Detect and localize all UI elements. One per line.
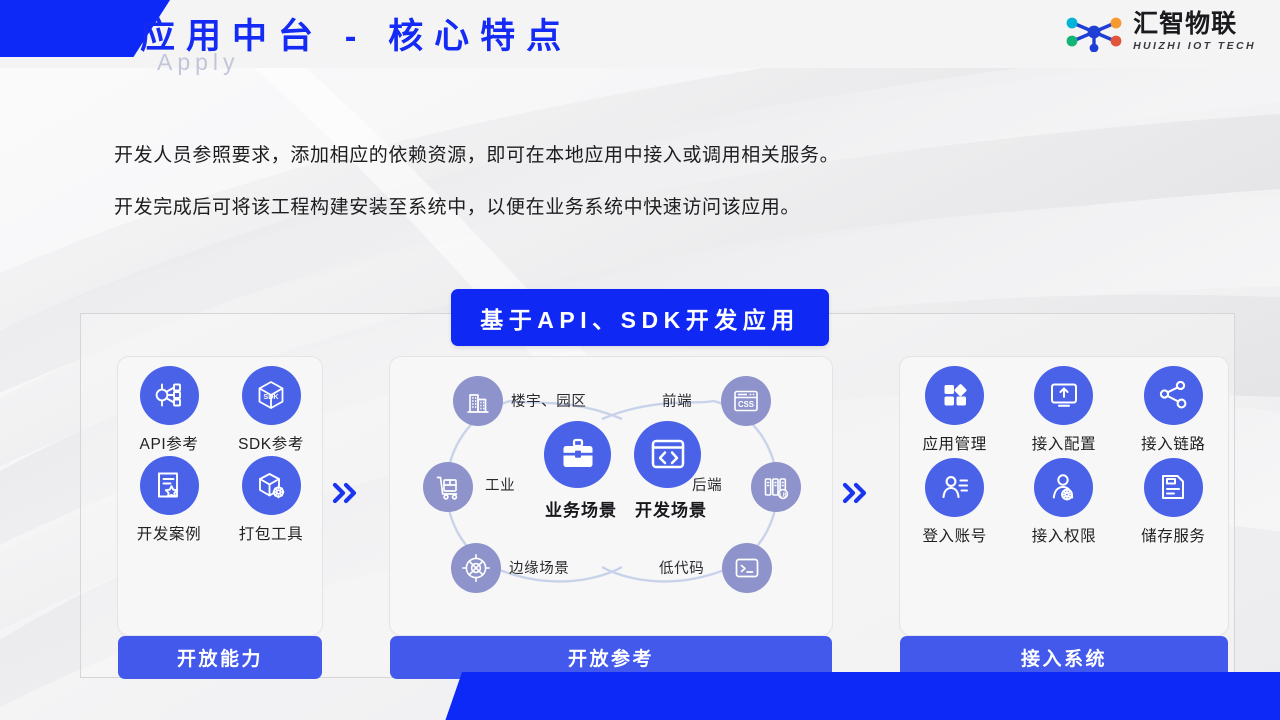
ring-node-frontend[interactable]: CSS [721,376,771,426]
double-chevron-right-icon [840,480,870,506]
capability-item-api[interactable]: API参考 [140,366,199,454]
ring-node-building[interactable] [453,376,503,426]
box-gear-icon [242,456,301,515]
capability-item-label: SDK参考 [238,432,304,454]
factory-cart-icon [433,472,463,502]
access-item-label: 登入账号 [922,524,986,546]
paragraph-1: 开发人员参照要求，添加相应的依赖资源，即可在本地应用中接入或调用相关服务。 [114,140,839,167]
capability-item-label: 开发案例 [137,522,201,544]
file-storage-icon [1144,458,1203,517]
code-brackets-icon [648,434,688,474]
panel-footer-open-capability[interactable]: 开放能力 [118,636,322,679]
ring-label-building: 楼宇、园区 [511,390,587,411]
capability-item-sdk[interactable]: SDK SDK参考 [238,366,304,454]
ring-label-edge: 边缘场景 [509,557,569,578]
access-item-storage-service[interactable]: 储存服务 [1141,458,1205,546]
capability-icon-grid: API参考 SDK SDK参考 [118,357,322,544]
access-item-label: 接入权限 [1032,524,1096,546]
svg-text:SDK: SDK [263,392,279,401]
capability-item-label: 打包工具 [239,522,303,544]
access-item-label: 接入配置 [1032,432,1096,454]
ring-node-backend[interactable]: LB [751,462,801,512]
reference-ring-diagram: 楼宇、园区 工业 [390,357,832,635]
ring-label-lowcode: 低代码 [659,557,704,578]
separator-arrow-2 [833,480,877,512]
terminal-icon [732,553,762,583]
ring-label-industry: 工业 [485,474,515,495]
ring-node-edge[interactable] [451,543,501,593]
logo-name-en: HUIZHI IOT TECH [1133,41,1256,52]
server-rack-icon: LB [761,472,791,502]
panels-row: API参考 SDK SDK参考 [80,313,1235,678]
monitor-upload-icon [1034,366,1093,425]
app-grid-icon [925,366,984,425]
ring-label-backend: 后端 [692,474,722,495]
document-star-icon [140,456,199,515]
access-item-login-account[interactable]: 登入账号 [922,458,986,546]
panel-access-system: 应用管理 接入配置 [899,356,1229,636]
access-item-access-config[interactable]: 接入配置 [1032,366,1096,454]
share-nodes-icon [1144,366,1203,425]
sdk-cube-icon: SDK [242,366,301,425]
briefcase-icon [558,434,598,474]
capability-item-case[interactable]: 开发案例 [137,456,201,544]
user-gear-icon [1034,458,1093,517]
svg-text:CSS: CSS [738,400,754,409]
section-banner: 基于API、SDK开发应用 [451,289,829,346]
capability-item-label: API参考 [140,432,199,454]
api-share-icon [140,366,199,425]
network-nodes-icon [1063,12,1125,52]
slide-canvas: 应用中台 - 核心特点 Apply 汇智物联 HUIZHI IOT TECH 开… [0,0,1280,720]
access-item-access-permission[interactable]: 接入权限 [1032,458,1096,546]
access-item-label: 接入链路 [1141,432,1205,454]
capability-item-packaging[interactable]: 打包工具 [239,456,303,544]
building-icon [463,386,493,416]
paragraph-2: 开发完成后可将该工程构建安装至系统中，以便在业务系统中快速访问该应用。 [114,192,800,219]
ring-node-lowcode[interactable] [722,543,772,593]
access-item-app-management[interactable]: 应用管理 [922,366,986,454]
access-item-label: 应用管理 [922,432,986,454]
svg-text:LB: LB [780,492,787,498]
hub-node-business[interactable] [544,421,611,488]
edge-node-icon [461,553,491,583]
panel-open-capability: API参考 SDK SDK参考 [117,356,323,636]
access-item-access-link[interactable]: 接入链路 [1141,366,1205,454]
ring-label-frontend: 前端 [662,390,692,411]
separator-arrow-1 [323,480,367,512]
double-chevron-right-icon [330,480,360,506]
brand-logo: 汇智物联 HUIZHI IOT TECH [1063,12,1256,52]
ring-node-industry[interactable] [423,462,473,512]
hub-label-business: 业务场景 [545,496,617,521]
page-subtitle: Apply [157,49,240,76]
css-browser-icon: CSS [731,386,761,416]
hub-node-development[interactable] [634,421,701,488]
access-item-label: 储存服务 [1141,524,1205,546]
user-id-icon [925,458,984,517]
hub-label-development: 开发场景 [635,496,707,521]
logo-name-cn: 汇智物联 [1133,12,1256,37]
panel-open-reference: 楼宇、园区 工业 [389,356,833,636]
access-icon-grid: 应用管理 接入配置 [900,357,1228,546]
